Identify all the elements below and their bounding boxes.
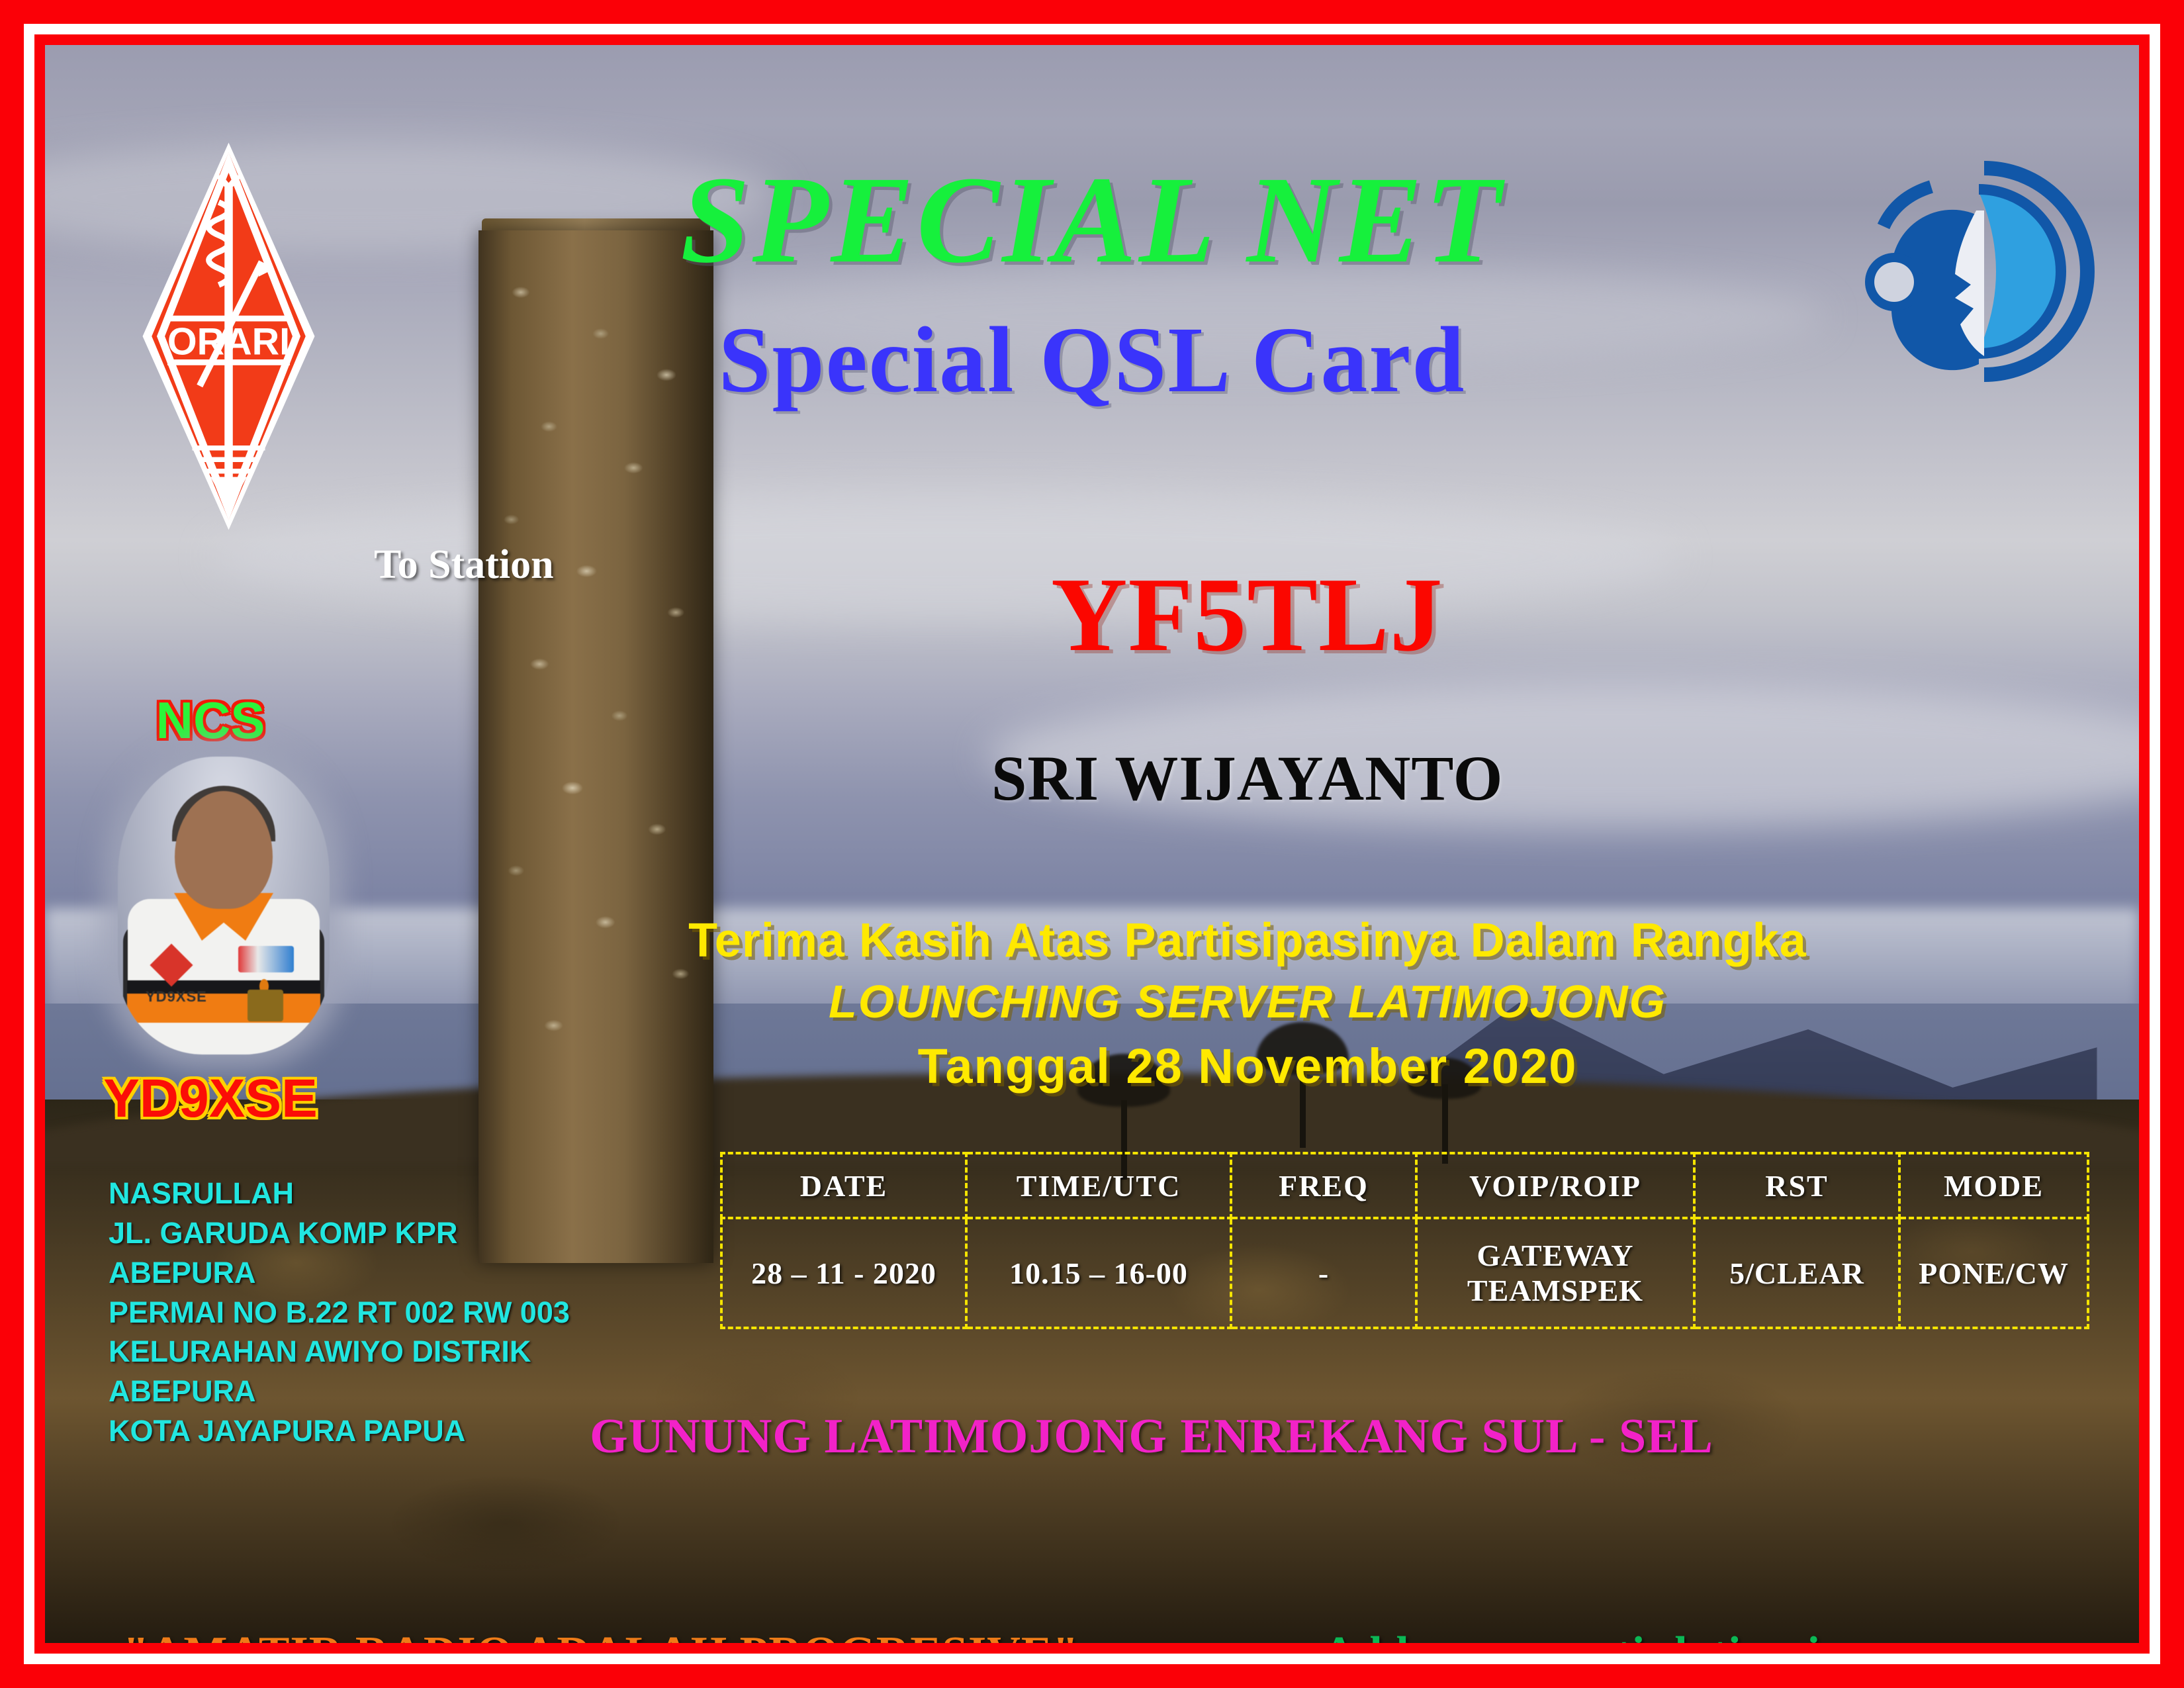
address-line: JL. GARUDA KOMP KPR <box>109 1213 570 1253</box>
card-inner-red-frame: ORARI SPE <box>34 34 2150 1654</box>
table-row: 28 – 11 - 2020 10.15 – 16-00 - GATEWAY T… <box>721 1218 2088 1328</box>
qso-log-table: DATE TIME/UTC FREQ VOIP/ROIP RST MODE 28… <box>720 1152 2089 1329</box>
table-header-time: TIME/UTC <box>966 1153 1231 1218</box>
address-line: KELURAHAN AWIYO DISTRIK <box>109 1332 570 1372</box>
location-line: GUNUNG LATIMOJONG ENREKANG SUL - SEL <box>45 1409 2139 1465</box>
table-header-row: DATE TIME/UTC FREQ VOIP/ROIP RST MODE <box>721 1153 2088 1218</box>
station-callsign: YF5TLJ <box>1051 561 1443 667</box>
table-header-voip: VOIP/ROIP <box>1416 1153 1694 1218</box>
to-station-label: To Station <box>374 541 554 588</box>
avatar-shirt-callsign: YD9XSE <box>146 988 207 1006</box>
cell-voip: GATEWAY TEAMSPEK <box>1416 1218 1694 1328</box>
card-photo-background: ORARI SPE <box>45 45 2139 1643</box>
address-line: ABEPURA <box>109 1253 570 1293</box>
ncs-callsign: YD9XSE <box>45 1068 376 1130</box>
address-line: NASRULLAH <box>109 1174 570 1213</box>
table-header-date: DATE <box>721 1153 966 1218</box>
footer-address: Address : amatir.latimojong.com <box>1322 1627 1991 1643</box>
operator-name: SRI WIJAYANTO <box>991 747 1503 810</box>
cell-voip-line1: GATEWAY <box>1418 1238 1692 1273</box>
page-title: SPECIAL NET <box>45 158 2139 282</box>
page-subtitle: Special QSL Card <box>45 312 2139 406</box>
address-line: PERMAI NO B.22 RT 002 RW 003 <box>109 1293 570 1333</box>
table-header-rst: RST <box>1694 1153 1899 1218</box>
cell-freq: - <box>1231 1218 1416 1328</box>
table-header-freq: FREQ <box>1231 1153 1416 1218</box>
ncs-label: NCS <box>45 690 376 751</box>
ncs-operator-avatar: YD9XSE <box>118 757 330 1055</box>
qsl-card: ORARI SPE <box>0 0 2184 1688</box>
address-line: ABEPURA <box>109 1372 570 1411</box>
table-header-mode: MODE <box>1899 1153 2088 1218</box>
cell-date: 28 – 11 - 2020 <box>721 1218 966 1328</box>
cell-voip-line2: TEAMSPEK <box>1418 1273 1692 1308</box>
cell-time: 10.15 – 16-00 <box>966 1218 1231 1328</box>
thanks-line-1: Terima Kasih Atas Partisipasinya Dalam R… <box>45 914 2139 968</box>
cell-rst: 5/CLEAR <box>1694 1218 1899 1328</box>
cell-mode: PONE/CW <box>1899 1218 2088 1328</box>
thanks-line-2: LOUNCHING SERVER LATIMOJONG <box>45 975 2139 1028</box>
motto-text: "AMATIR RADIO ADALAH PROGRESIVE" <box>123 1627 1079 1643</box>
card-white-band: ORARI SPE <box>24 24 2160 1664</box>
